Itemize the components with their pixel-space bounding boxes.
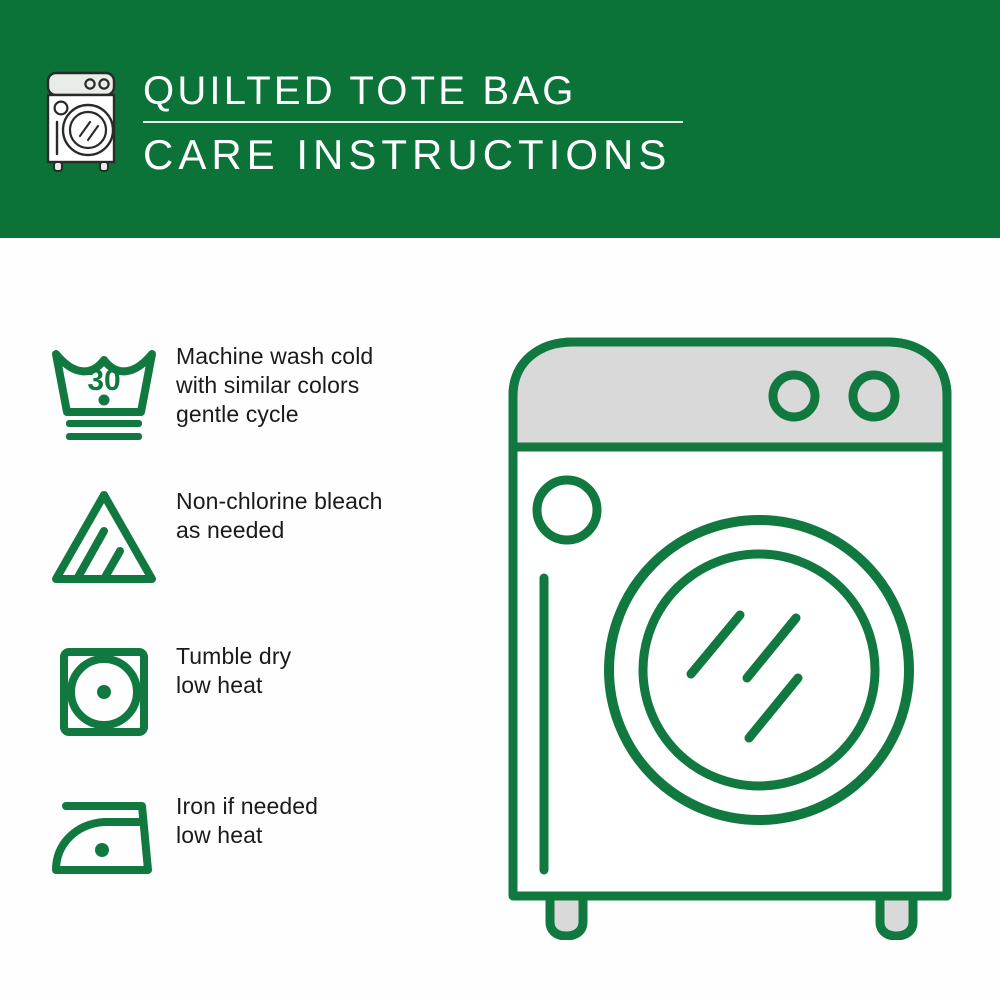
control-panel bbox=[513, 342, 947, 447]
care-text-line: Non-chlorine bleach bbox=[176, 487, 382, 516]
care-row-machine-wash: 30 Machine wash cold with similar colors… bbox=[44, 338, 464, 446]
care-row-iron: Iron if needed low heat bbox=[44, 788, 464, 896]
wash-temperature-label: 30 bbox=[87, 364, 120, 397]
care-text-machine-wash: Machine wash cold with similar colors ge… bbox=[176, 338, 373, 429]
care-text-line: low heat bbox=[176, 671, 291, 700]
page-title-secondary: CARE INSTRUCTIONS bbox=[143, 131, 703, 179]
non-chlorine-bleach-triangle-icon bbox=[44, 483, 164, 591]
care-instructions-infographic: QUILTED TOTE BAG CARE INSTRUCTIONS 30 Ma… bbox=[0, 0, 1000, 1000]
care-row-tumble-dry: Tumble dry low heat bbox=[44, 638, 464, 746]
care-row-bleach: Non-chlorine bleach as needed bbox=[44, 483, 464, 591]
tumble-dry-low-heat-icon bbox=[44, 638, 164, 746]
care-instruction-list: 30 Machine wash cold with similar colors… bbox=[0, 238, 470, 1000]
header-banner: QUILTED TOTE BAG CARE INSTRUCTIONS bbox=[0, 0, 1000, 238]
care-text-bleach: Non-chlorine bleach as needed bbox=[176, 483, 382, 545]
care-text-line: Iron if needed bbox=[176, 792, 318, 821]
care-text-line: Tumble dry bbox=[176, 642, 291, 671]
care-text-line: Machine wash cold bbox=[176, 342, 373, 371]
care-text-line: with similar colors bbox=[176, 371, 373, 400]
machine-wash-basin-30-icon: 30 bbox=[44, 338, 164, 446]
leg-left bbox=[550, 896, 583, 936]
iron-low-heat-icon bbox=[44, 788, 164, 896]
care-text-line: gentle cycle bbox=[176, 400, 373, 429]
washing-machine-logo-icon bbox=[44, 70, 118, 172]
page-title-primary: QUILTED TOTE BAG bbox=[143, 68, 703, 114]
washing-machine-illustration bbox=[495, 330, 965, 940]
care-text-tumble-dry: Tumble dry low heat bbox=[176, 638, 291, 700]
care-text-iron: Iron if needed low heat bbox=[176, 788, 318, 850]
title-divider bbox=[143, 121, 683, 123]
title-block: QUILTED TOTE BAG CARE INSTRUCTIONS bbox=[143, 68, 703, 179]
care-text-line: as needed bbox=[176, 516, 382, 545]
care-text-line: low heat bbox=[176, 821, 318, 850]
leg-right bbox=[880, 896, 913, 936]
